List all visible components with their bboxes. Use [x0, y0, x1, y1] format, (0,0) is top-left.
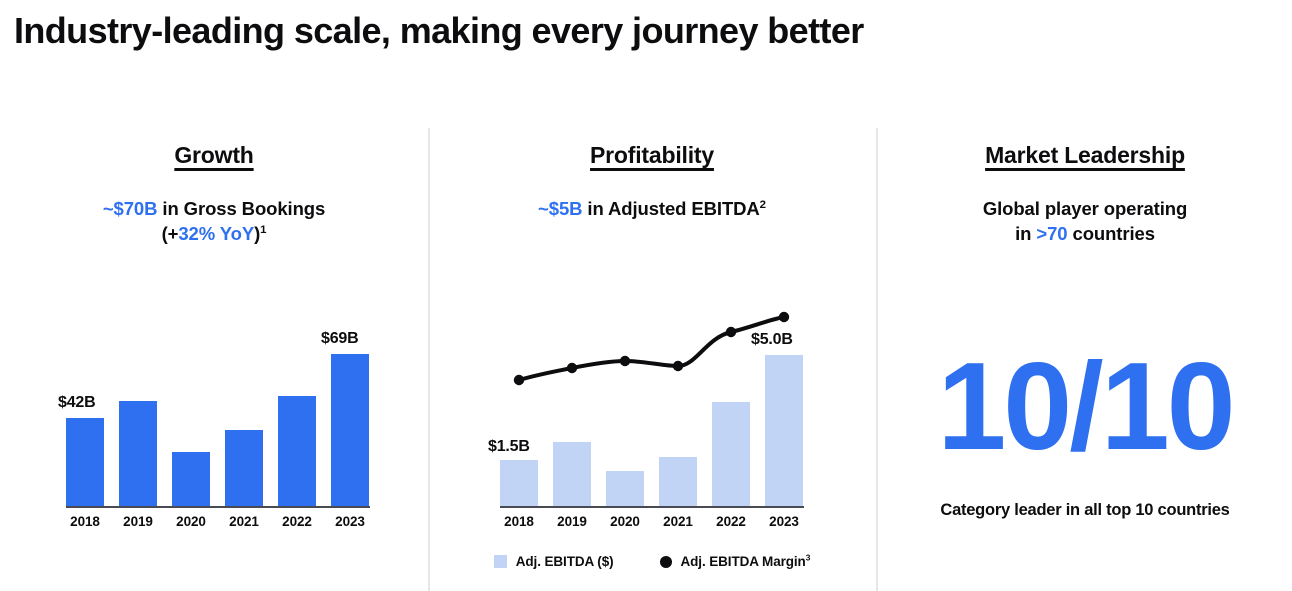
ebitda-label-2018: $1.5B — [488, 438, 530, 456]
legend-footnote-marker: 3 — [806, 553, 811, 563]
margin-point-2019 — [567, 363, 577, 373]
ebitda-bar-2020 — [606, 471, 644, 506]
square-swatch-icon — [494, 555, 507, 568]
market-sub2-value: >70 — [1036, 223, 1067, 244]
profitability-legend: Adj. EBITDA ($) Adj. EBITDA Margin3 — [500, 554, 804, 569]
bar-label-2023: $69B — [321, 330, 358, 348]
profitability-heading: Profitability — [442, 142, 862, 169]
xtick-2020: 2020 — [176, 514, 206, 529]
margin-point-2023 — [779, 312, 789, 322]
market-sub2-post: countries — [1067, 223, 1154, 244]
growth-plot: $42B $69B — [66, 308, 370, 508]
margin-point-2018 — [514, 375, 524, 385]
margin-point-2021 — [673, 361, 683, 371]
xtick-2023: 2023 — [335, 514, 365, 529]
market-caption: Category leader in all top 10 countries — [890, 501, 1280, 520]
bar-2020 — [172, 452, 210, 506]
column-divider-2 — [876, 128, 878, 591]
profit-xtick-2022: 2022 — [716, 514, 746, 529]
bar-2019 — [119, 401, 157, 506]
profitability-footnote-marker: 2 — [760, 199, 766, 211]
profitability-sub-text: in Adjusted EBITDA — [582, 198, 759, 219]
market-big-stat: 10/10 — [890, 345, 1280, 469]
column-divider-1 — [428, 128, 430, 591]
xtick-2021: 2021 — [229, 514, 259, 529]
page-title: Industry-leading scale, making every jou… — [14, 10, 864, 52]
market-heading: Market Leadership — [890, 142, 1280, 169]
bar-label-2018: $42B — [58, 394, 95, 412]
margin-point-2020 — [620, 356, 630, 366]
profitability-axis-line — [500, 506, 804, 509]
bar-2018 — [66, 418, 104, 506]
growth-heading: Growth — [14, 142, 414, 169]
ebitda-bar-2022 — [712, 402, 750, 506]
xtick-2019: 2019 — [123, 514, 153, 529]
legend-item-margin: Adj. EBITDA Margin3 — [660, 554, 811, 569]
profit-xtick-2018: 2018 — [504, 514, 534, 529]
xtick-2022: 2022 — [282, 514, 312, 529]
market-subtitle: Global player operating in >70 countries — [890, 197, 1280, 247]
growth-column: Growth ~$70B in Gross Bookings (+32% YoY… — [14, 128, 414, 247]
slide-root: Industry-leading scale, making every jou… — [0, 0, 1292, 591]
ebitda-label-2023: $5.0B — [751, 331, 793, 349]
bar-2022 — [278, 396, 316, 506]
market-leadership-column: Market Leadership Global player operatin… — [890, 128, 1280, 520]
growth-sub2-open: (+ — [162, 223, 179, 244]
profitability-sub-value: ~$5B — [538, 198, 582, 219]
profitability-column: Profitability ~$5B in Adjusted EBITDA2 — [442, 128, 862, 222]
ebitda-bar-2019 — [553, 442, 591, 506]
legend-label-ebitda: Adj. EBITDA ($) — [516, 554, 614, 569]
growth-subtitle: ~$70B in Gross Bookings (+32% YoY)1 — [14, 197, 414, 247]
ebitda-bar-2021 — [659, 457, 697, 506]
growth-chart: $42B $69B 2018 2019 2020 2021 2022 2023 — [66, 308, 370, 540]
margin-point-2022 — [726, 327, 736, 337]
profit-xtick-2023: 2023 — [769, 514, 799, 529]
legend-label-margin: Adj. EBITDA Margin3 — [681, 554, 811, 569]
ebitda-bar-2023 — [765, 355, 803, 506]
growth-footnote-marker: 1 — [260, 224, 266, 236]
profit-xtick-2021: 2021 — [663, 514, 693, 529]
market-sub2-pre: in — [1015, 223, 1036, 244]
xtick-2018: 2018 — [70, 514, 100, 529]
growth-axis-line — [66, 506, 370, 509]
growth-sub2-value: 32% YoY — [178, 223, 254, 244]
legend-item-ebitda: Adj. EBITDA ($) — [494, 554, 614, 569]
ebitda-bar-2018 — [500, 460, 538, 506]
profitability-chart: $1.5B $5.0B 2018 2019 2020 2021 2022 202… — [500, 308, 804, 569]
profit-xtick-2019: 2019 — [557, 514, 587, 529]
bar-2023 — [331, 354, 369, 506]
growth-sub-text: in Gross Bookings — [157, 198, 325, 219]
growth-sub-value: ~$70B — [103, 198, 158, 219]
growth-xticks: 2018 2019 2020 2021 2022 2023 — [66, 514, 370, 540]
market-sub-line1: Global player operating — [890, 197, 1280, 222]
profitability-xticks: 2018 2019 2020 2021 2022 2023 — [500, 514, 804, 540]
dot-swatch-icon — [660, 556, 672, 568]
profitability-subtitle: ~$5B in Adjusted EBITDA2 — [442, 197, 862, 222]
profit-xtick-2020: 2020 — [610, 514, 640, 529]
profitability-plot: $1.5B $5.0B — [500, 308, 804, 508]
bar-2021 — [225, 430, 263, 506]
